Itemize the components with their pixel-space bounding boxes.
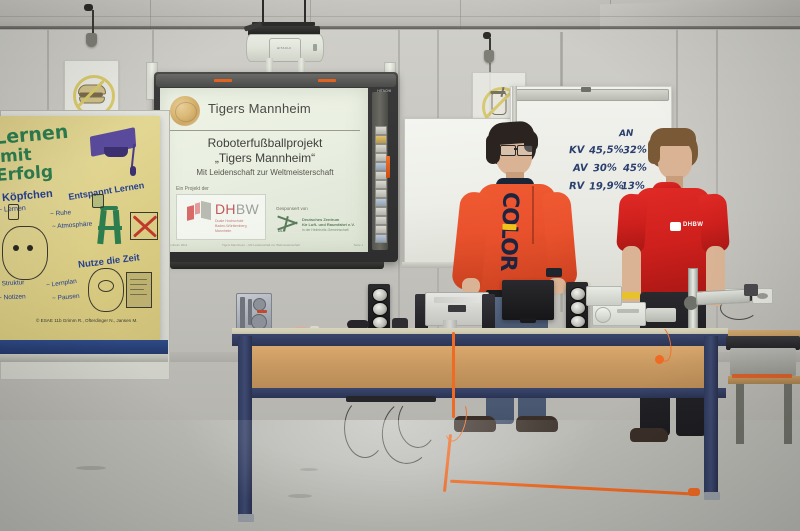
side-table-leg [736,384,744,444]
poster-bullet-notizen: ~ Notizen [0,293,26,301]
dhbw-mark-shape [201,201,211,220]
toolbar-button[interactable] [375,225,387,234]
no-tv-sketch-icon [130,212,158,240]
orange-cord-end [655,355,664,364]
toolbar-button[interactable] [375,198,387,207]
face [658,140,692,180]
side-table-leg [784,384,792,444]
flipchart-clip-tab [581,87,591,92]
classroom-presentation-photo: HITACHI StarBoard HITACHI Tigers Mannhei… [0,0,800,531]
dhbw-subtitle-2: Baden-Württemberg [215,224,247,229]
slide-divider [170,130,360,131]
slide-footer-center: Tigers Mannheim – Mit Leidenschaft zur W… [222,243,300,247]
dhbw-mark-shape [195,202,200,214]
camera-arm [696,289,751,306]
glasses-bridge [514,148,517,150]
poster-board-bottom-strip [0,340,168,354]
computer-monitor [425,292,489,326]
toolbar-button[interactable] [375,207,387,216]
poster-bullet-ruhe: ~ Ruhe [50,209,72,217]
projector-lens [595,307,611,323]
hoodie-graphic-text: COLOR [497,192,520,271]
poster-section-koepfchen: Köpfchen [2,188,54,204]
equipment-box [646,308,676,322]
projector-lens-housing [269,38,301,62]
smartboard-pen-tray [170,262,384,269]
smartboard-indicator-led [318,79,336,82]
slide-sponsor-label: Gesponsert von [276,206,308,211]
projector-panel [617,309,639,313]
equipment-box [586,286,622,306]
smartboard[interactable]: StarBoard HITACHI Tigers Mannheim Robote… [154,72,398,262]
smartboard-toolbar[interactable] [372,92,388,250]
head-sketch-icon [2,226,48,280]
toolbar-button[interactable] [375,180,387,189]
ceiling-projector: HITACHI [246,34,324,62]
hair-side [486,134,500,164]
poster-bullet-atmosphaere: ~ Atmosphäre [52,221,93,231]
left-shoe [630,428,668,442]
glasses [517,145,533,156]
speaker-left [368,284,390,330]
dhbw-subtitle-3: Mannheim [215,229,231,234]
smartboard-indicator-led [214,79,232,82]
slide-footer-right: Seite 1 [354,243,363,247]
poster-title-line-3: Erfolg [0,162,54,186]
projector-mount-arm [304,0,306,24]
clock-sketch-icon [98,280,114,292]
slide-header-title: Tigers Mannheim [208,101,311,116]
main-table-lower-rail [240,388,726,398]
flipchart-row-label: KV [569,145,585,157]
flipchart-row-label: RV [569,181,585,193]
poster-section-entspannt: Entspannt Lernen [68,180,145,202]
monitor-vent [434,297,480,303]
learning-poster: Lernen mit Erfolg Köpfchen ~ Lernen Ents… [0,116,160,340]
monitor-logo [448,305,466,312]
projected-slide: Tigers Mannheim Roboterfußballprojekt „T… [160,88,368,252]
hanging-fixture [86,33,97,47]
poster-bullet-lernplan: ~ Lernplan [46,278,78,289]
dhbw-mark-shape [187,205,194,221]
toolbar-button[interactable] [375,216,387,225]
dhbw-logo: DHBW Duale Hochschule Baden-Württemberg … [176,194,266,240]
equipment-case-gray [730,348,796,376]
orange-cord-plug [688,488,700,496]
table-foot [704,492,720,500]
slide-headline-1: Roboterfußballprojekt [172,136,358,150]
poster-title-line-1: Lernen [0,121,69,149]
wristwatch [546,268,562,277]
hanging-fixture [484,50,494,63]
monitor-right-edge [482,294,495,330]
camera-head [744,284,758,296]
relax-chair-sketch-icon [96,206,128,248]
projector-brand-label: HITACHI [269,46,299,50]
tigers-mannheim-logo-icon [170,96,200,126]
hair-side [648,138,660,164]
hanging-cable [92,10,94,34]
toolbar-button[interactable] [375,135,387,144]
toolbar-button[interactable] [375,144,387,153]
polo-chest-logo: DHBW [670,220,704,232]
poster-credit: © ESAE 11b Grimm R., Ofterdinger N., Jan… [36,318,138,323]
speaker-right [566,282,588,330]
glasses [500,145,516,156]
slide-project-label: Ein Projekt der [176,186,209,192]
polo-chest-logo-text: DHBW [683,222,703,228]
toolbar-button[interactable] [375,189,387,198]
toolbar-button[interactable] [375,234,387,243]
dhbw-wordmark: DHBW [215,202,259,216]
flipchart-row-label: AV [573,163,588,175]
poster-bullet-pausen: ~ Pausen [52,293,80,302]
black-monitor-stand [520,318,536,323]
wall-seam [398,30,400,330]
ceiling-rail [0,26,800,29]
ceiling-seam [0,16,800,17]
slide-subtitle: Mit Leidenschaft zur Weltmeisterschaft [172,168,358,177]
hoodie-graphic-accent [502,224,516,230]
floor-reflection [180,420,600,530]
dhbw-subtitle-1: Duale Hochschule [215,219,243,224]
dlr-logo-icon: DLR [276,216,300,234]
slide-headline-2: „Tigers Mannheim“ [172,151,358,165]
projector-vent [313,44,317,51]
main-table-front-panel [248,346,718,390]
calendar-sketch-icon [126,272,152,308]
smartboard-top-bezel [156,74,396,87]
graduation-cap-icon [88,128,148,178]
plant-sketch-icon [92,194,104,208]
poster-bullet-struktur: ~ Struktur [0,279,25,287]
poster-board-tray [0,354,168,362]
main-table-leg-right [704,336,718,496]
dlr-line-3: in der Helmholtz-Gemeinschaft [302,228,349,233]
flipchart-clamp [515,89,669,101]
polo-left-sleeve [616,193,648,253]
floor-mark [76,466,106,470]
equipment-accent-strip [732,374,792,378]
hoodie-zipper [532,186,534,244]
black-monitor [502,280,554,320]
toolbar-slider[interactable] [386,156,390,178]
dlr-line-2: für Luft- und Raumfahrt e.V. [302,222,355,227]
hoodie-graphic: COLOR [494,192,523,289]
lightbulb-sketch-icon [8,204,19,220]
toolbar-button[interactable] [375,126,387,135]
wristband [621,292,640,299]
